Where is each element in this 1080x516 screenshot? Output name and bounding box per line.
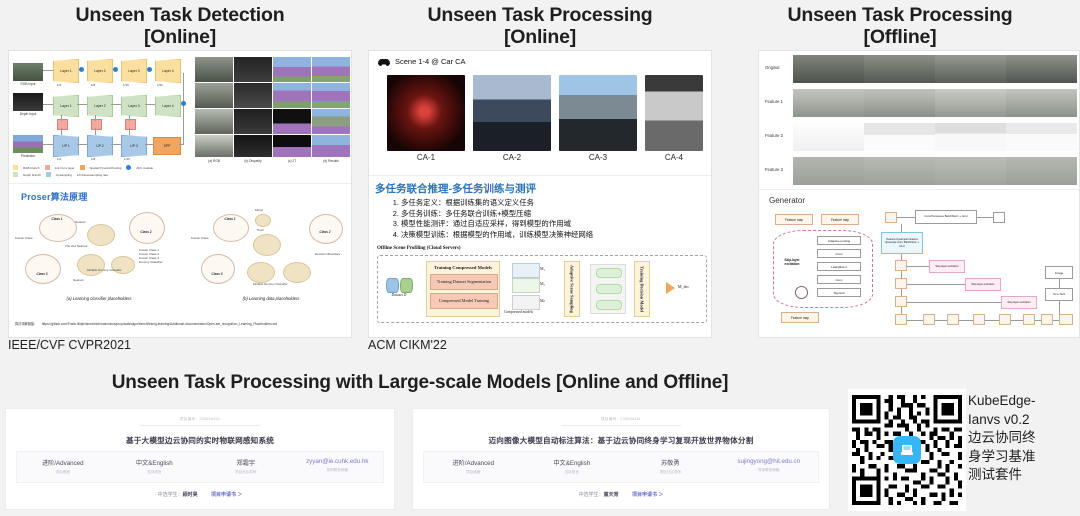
caption-cvpr2021: IEEE/CVF CVPR2021 <box>8 338 131 352</box>
qr-caption-line-4: 身学习基准 <box>968 448 1080 467</box>
slide-bullet-3: 模型性能测评：通过自适应采样，得到模型的作用域 <box>401 219 712 230</box>
project-2-number-value: 23906d151 <box>620 417 641 421</box>
multiple-dummy-b: Multiple Dummy Classifier <box>253 282 288 286</box>
afc-dot-3 <box>147 67 152 72</box>
model-label-1: M₁ <box>540 266 545 271</box>
generator-title: Generator <box>769 196 805 205</box>
document-icon <box>893 436 921 464</box>
skip-layer-excitation-module: Feature map Feature map Skip-layer excit… <box>773 214 873 328</box>
feature-cell-o3 <box>935 55 1006 83</box>
wire-v8 <box>183 106 184 144</box>
project-2-rule <box>561 425 681 426</box>
gen-convtranspose-block: ConvTranspose BatchNorm + GLU <box>915 210 977 224</box>
project-1-number-label: 项目编号： <box>180 417 199 421</box>
project-2-student-name: 童天育 <box>604 492 619 498</box>
gen-node-f4 <box>895 314 907 325</box>
qr-caption-line-2: Ianvs v0.2 <box>968 411 1080 430</box>
scene-image-row: CA-1 CA-2 CA-3 CA-4 <box>387 75 703 153</box>
panel-processing-online-figures: Scene 1-4 @ Car CA CA-1 CA-2 CA-3 CA-4 多… <box>368 50 712 338</box>
grid-caption-b: (b) Disparity <box>234 159 272 163</box>
proser-source-url[interactable]: https://github.com/Frank-lilinjie/ianvs/… <box>42 322 277 326</box>
project-1-rule <box>140 425 260 426</box>
generator-graph: ConvTranspose BatchNorm + GLU Nearest Up… <box>881 210 1077 332</box>
column-unseen-task-detection-online: Unseen Task Detection [Online] RGB Input… <box>0 0 360 352</box>
scene-image-ca4 <box>645 75 703 151</box>
project-1-email-value[interactable]: zyyan@ie.cuhk.edu.hk <box>292 458 384 465</box>
column-2-heading-line2: [Online] <box>360 26 720 48</box>
project-2-footer: 中选学生：童天育 项目申请书 ＞ <box>423 491 819 498</box>
column-3-heading-line2: [Offline] <box>720 26 1080 48</box>
rgb-layer-1: Layer 1 <box>53 59 79 83</box>
mixup-label-b: Mixup <box>255 208 263 212</box>
scale-1-8: 1/8 <box>91 83 95 87</box>
project-2-field-language: 中文&English 支持语言 <box>523 458 622 482</box>
scene-image-ca1 <box>387 75 465 151</box>
wire-v7 <box>183 73 184 101</box>
dummy-cluster-b-1 <box>247 262 275 283</box>
wire-v1 <box>61 115 62 121</box>
panel-detection-figures: RGB Input Depth Input Prediction Layer 1… <box>8 50 352 338</box>
slide-title: 多任务联合推理-多任务训练与测评 <box>375 181 536 196</box>
nearest-label-a: Nearest <box>75 220 86 224</box>
slide-bullet-list: 多任务定义：根据训练集的语义定义任务 多任务训练：多任务联合训练+模型压缩 模型… <box>387 198 712 240</box>
spp-block: SPP <box>153 137 181 155</box>
gen-node-g1 <box>923 314 935 325</box>
gen-node-z1 <box>885 212 897 223</box>
conv-box-1 <box>57 119 68 130</box>
conv-box-2 <box>91 119 102 130</box>
feature-cell-o1 <box>793 55 864 83</box>
depth-layer-2: Layer 2 <box>87 95 113 117</box>
project-1-field-language: 中文&English 支持语言 <box>109 458 201 482</box>
cluster-b-class3 <box>201 254 235 284</box>
scene-label-ca1: CA-1 <box>387 153 465 162</box>
depth-layer-3: Layer 3 <box>121 95 147 117</box>
gen-conv-tanh: Conv Tanh <box>1045 288 1073 301</box>
scene-strip-title: Scene 1-4 @ Car CA <box>395 57 466 66</box>
gen-node-f3 <box>895 296 907 307</box>
feature-row-2 <box>793 123 1077 151</box>
psi-group <box>590 264 626 314</box>
gen-upsample-block: Nearest Upsample Nearest Upsample Conv B… <box>881 232 923 254</box>
cluster-a-class2 <box>129 212 165 244</box>
qr-caption: KubeEdge- Ianvs v0.2 边云协同终 身学习基准 测试套件 <box>968 392 1080 485</box>
grid-caption-c: (c) 2T <box>273 159 311 163</box>
feature-cell-f3d <box>1006 157 1077 185</box>
project-1-difficulty-value: 进阶/Advanced <box>17 458 109 467</box>
proser-legend: Known Class 1 Known Class 2 Known Class … <box>139 248 163 264</box>
feature-cell-o2 <box>864 55 935 83</box>
sle-conv-1: Conv <box>817 249 861 258</box>
grid-cell-r3c1 <box>195 109 233 134</box>
sle-adaptive-pooling: Adaptive pooling <box>817 236 861 245</box>
qr-caption-line-1: KubeEdge- <box>968 392 1080 411</box>
up-3: UP 3 <box>121 135 147 157</box>
project-2-apply-link[interactable]: 项目申请书 ＞ <box>632 492 663 498</box>
project-1-title: 基于大模型边云协同的实时物联网感知系统 <box>6 435 394 446</box>
dec-scale-1-4: 1/4 <box>57 157 61 161</box>
sle-multiply-node <box>795 286 808 299</box>
project-2-field-email[interactable]: sujingyong@hit.edu.cn 导师联系邮箱 <box>720 458 819 482</box>
training-decision-model-box: Training Decision Model <box>634 261 650 317</box>
feature-cell-f3c <box>935 157 1006 185</box>
slide-bullet-4: 决策模型训练：根据模型的作用域，训练模型决策神经网络 <box>401 230 712 241</box>
grid-caption-d: (d) Results <box>312 159 350 163</box>
scene-strip: Scene 1-4 @ Car CA CA-1 CA-2 CA-3 CA-4 <box>369 51 712 175</box>
project-2-title: 迈向图像大模型自动标注算法：基于边云协同终身学习复现开放世界物体分割 <box>413 435 829 446</box>
decision-output-label: M_dec <box>678 284 689 289</box>
up-2: UP 2 <box>87 135 113 157</box>
sle-sigmoid: Sigmoid <box>817 288 861 297</box>
project-2-student-label: 中选学生： <box>579 492 604 498</box>
grid-cell-r2c1 <box>195 83 233 108</box>
depth-layer-1: Layer 1 <box>53 95 79 117</box>
feature-cell-f2a <box>793 123 864 151</box>
gen-node-g4 <box>999 314 1011 325</box>
proser-subcaption-b: (b) Learning data placeholders <box>191 296 351 301</box>
legend-swatch-conv <box>45 165 50 170</box>
qr-code[interactable] <box>848 389 966 511</box>
legend-swatch-spp <box>80 165 85 170</box>
project-card-2[interactable]: 项目编号：23906d151 迈向图像大模型自动标注算法：基于边云协同终身学习复… <box>412 408 830 510</box>
project-1-language-label: 支持语言 <box>109 470 201 475</box>
scene-label-ca2: CA-2 <box>473 153 551 162</box>
feature-visualization-grid: Original Feature 1 Feature 2 Feature 3 <box>759 51 1080 189</box>
feature-cell-f1c <box>935 89 1006 117</box>
afc-dot-2 <box>113 67 118 72</box>
project-card-1[interactable]: 项目编号：23906d152 基于大模型边云协同的实时物联网感知系统 进阶/Ad… <box>5 408 395 510</box>
project-1-difficulty-label: 项目难度 <box>17 470 109 475</box>
push-label-b: Push <box>257 228 264 232</box>
column-unseen-task-processing-online: Unseen Task Processing [Online] Scene 1-… <box>360 0 720 352</box>
project-1-field-difficulty: 进阶/Advanced 项目难度 <box>17 458 109 482</box>
feature-row-3 <box>793 157 1077 185</box>
proser-subcaption-a: (a) Learning classifier placeholders <box>15 296 183 301</box>
scene-image-ca3 <box>559 75 637 151</box>
project-2-fields: 进阶/Advanced 项目难度 中文&English 支持语言 苏敬勇 项目社… <box>423 451 819 483</box>
project-1-fields: 进阶/Advanced 项目难度 中文&English 支持语言 郑霜宇 项目社… <box>16 451 384 483</box>
proser-source-label: 算法详解链接： <box>15 322 37 326</box>
project-2-field-mentor: 苏敬勇 项目社区导师 <box>621 458 720 482</box>
nearest-label-a2: Nearest <box>73 278 84 282</box>
rgb-layer-4: Layer 4 <box>155 59 181 83</box>
compressed-models-group: M₁ M₂ Mₙ Compressed models <box>512 263 554 313</box>
project-1-number: 项目编号：23906d152 <box>6 417 394 422</box>
grid-cell-r4c1 <box>195 135 233 157</box>
gen-sle-1: Skip-layer excitation <box>929 260 965 273</box>
proser-title: Proser算法原理 <box>21 190 88 203</box>
training-dataset-segmentation-box: Training Dataset Segmentation <box>430 274 498 290</box>
push-cluster-b <box>253 234 281 256</box>
proser-legend-4: Dummy Classifier <box>139 260 163 264</box>
mixup-node-b <box>255 214 271 227</box>
rgb-input-label: RGB Input <box>13 82 43 86</box>
feature-cell-f1a <box>793 89 864 117</box>
column-2-heading-line1: Unseen Task Processing <box>360 4 720 26</box>
grid-cell-r1c3 <box>273 57 311 82</box>
grid-cell-r4c2 <box>234 135 272 157</box>
project-1-apply-link[interactable]: 项目申请书 ＞ <box>211 492 242 498</box>
multiple-dummy-a: Multiple Dummy Classifier <box>87 268 122 272</box>
feature-cell-f1d <box>1006 89 1077 117</box>
bottom-heading: Unseen Task Processing with Large-scale … <box>0 372 840 394</box>
wire-v4 <box>95 128 96 135</box>
caption-cikm22: ACM CIKM'22 <box>368 338 447 352</box>
project-2-field-difficulty: 进阶/Advanced 项目难度 <box>424 458 523 482</box>
sle-feature-map-out: Feature map <box>781 312 819 323</box>
project-2-number-label: 项目编号： <box>601 417 620 421</box>
adaptive-scene-sampling-box: Adaptive Scene Sampling <box>564 261 580 317</box>
feature-row-original <box>793 55 1077 83</box>
figure-rgbd-architecture: RGB Input Depth Input Prediction Layer 1… <box>9 53 352 181</box>
grid-cell-r3c2 <box>234 109 272 134</box>
feature-cell-f2c <box>935 123 1006 151</box>
legend-swatch-afc <box>126 165 131 170</box>
cluster-b-class2-label: Class 2 <box>309 230 341 234</box>
grid-cell-r4c4 <box>312 135 350 157</box>
dummy-cluster-b-2 <box>283 262 311 283</box>
project-2-language-label: 支持语言 <box>523 470 622 475</box>
dataset-cylinders <box>386 278 413 293</box>
project-1-email-label: 导师联系邮箱 <box>292 468 384 473</box>
sle-conv-2: Conv <box>817 275 861 284</box>
wire-v6 <box>129 128 130 135</box>
grid-cell-r1c4 <box>312 57 350 82</box>
wire-9 <box>145 144 153 145</box>
grid-cell-r1c1 <box>195 57 233 82</box>
feature-row-label-original: Original <box>765 65 779 70</box>
project-2-email-label: 导师联系邮箱 <box>720 468 819 473</box>
grid-cell-r1c2 <box>234 57 272 82</box>
grid-cell-r2c3 <box>273 83 311 108</box>
cluster-b-class3-label: Class 3 <box>201 272 233 276</box>
grid-cell-r2c4 <box>312 83 350 108</box>
legend-label-downsampling: 1/N Downsampling rate <box>77 173 108 177</box>
gen-node-f1 <box>895 260 907 271</box>
grid-caption-a: (a) RGB <box>195 159 233 163</box>
training-compressed-models-title: Training Compressed Models <box>430 265 496 271</box>
scene-label-ca3: CA-3 <box>559 153 637 162</box>
decision-output-arrow <box>666 282 675 294</box>
rgb-layer-2: Layer 2 <box>87 59 113 83</box>
wire-3 <box>43 144 53 145</box>
scale-1-4: 1/4 <box>57 83 61 87</box>
known-class-label-a: Known Class <box>15 236 33 240</box>
gen-sle-2: Skip-layer excitation <box>965 278 1001 291</box>
column-unseen-task-processing-offline: Unseen Task Processing [Offline] Origina… <box>720 0 1080 352</box>
sle-leakyrelu: LeakyReLU <box>817 262 861 271</box>
dummy-cluster-a-2 <box>77 254 105 276</box>
slide-multitask: 多任务联合推理-多任务训练与测评 多任务定义：根据训练集的语义定义任务 多任务训… <box>369 175 712 336</box>
feature-cell-f2b <box>864 123 935 151</box>
second-nearest-label-a: The 2nd Nearest <box>65 244 87 248</box>
dummy-cluster-a-1 <box>87 224 115 246</box>
figure-generator: Generator Feature map Feature map Skip-l… <box>759 189 1080 338</box>
project-2-number: 项目编号：23906d151 <box>413 417 829 422</box>
cluster-a-class3-label: Class 3 <box>25 272 59 276</box>
slide-bullet-1: 多任务定义：根据训练集的语义定义任务 <box>401 198 712 209</box>
wire-5 <box>111 104 121 105</box>
wire-2 <box>43 104 53 105</box>
feature-row-label-feature1: Feature 1 <box>765 99 783 104</box>
up-1: UP 1 <box>53 135 79 157</box>
project-1-field-email[interactable]: zyyan@ie.cuhk.edu.hk 导师联系邮箱 <box>292 458 384 482</box>
gen-image-out: Image <box>1045 266 1073 279</box>
dec-scale-1-8: 1/8 <box>91 157 95 161</box>
legend-label-rgb-branch: RGB branch <box>23 166 40 170</box>
rgb-layer-3: Layer 3 <box>121 59 147 83</box>
proser-subfigure-b: Class 1 Class 2 Class 3 Known Class Mixu… <box>191 208 351 290</box>
wire-6 <box>145 104 155 105</box>
sle-feature-map-in-1: Feature map <box>775 214 813 225</box>
top-panels-row: Unseen Task Detection [Online] RGB Input… <box>0 0 1080 352</box>
scale-1-32: 1/32 <box>157 83 163 87</box>
grid-cell-r3c4 <box>312 109 350 134</box>
legend-label-afc: AFC module <box>136 166 153 170</box>
compressed-models-label: Compressed models <box>504 310 562 314</box>
project-1-student-label: 中选学生： <box>158 492 183 498</box>
column-1-heading-line1: Unseen Task Detection <box>0 4 360 26</box>
feature-cell-o4 <box>1006 55 1077 83</box>
wire-4 <box>77 104 87 105</box>
qr-caption-line-3: 边云协同终 <box>968 429 1080 448</box>
project-1-student-name: 顾时昊 <box>183 492 198 498</box>
project-1-footer: 中选学生：顾时昊 项目申请书 ＞ <box>16 491 384 498</box>
model-label-2: M₂ <box>540 281 545 286</box>
project-2-language-value: 中文&English <box>523 458 622 467</box>
feature-row-label-feature3: Feature 3 <box>765 167 783 172</box>
scene-image-ca2 <box>473 75 551 151</box>
decision-boundary-label-b: Decision Boundary <box>315 252 340 256</box>
prediction-thumb <box>13 135 43 153</box>
wire-8 <box>111 144 121 145</box>
column-1-heading: Unseen Task Detection [Online] <box>0 0 360 50</box>
cluster-a-class1-label: Class 1 <box>39 217 75 221</box>
proser-source: 算法详解链接： https://github.com/Frank-lilinji… <box>15 312 349 330</box>
gen-node-g6 <box>1041 314 1053 325</box>
wire-v5 <box>129 115 130 121</box>
slide-bullet-2: 多任务训练：多任务联合训练+模型压缩 <box>401 209 712 220</box>
grid-cell-r3c3 <box>273 109 311 134</box>
known-class-label-b: Known Class <box>191 236 209 240</box>
gen-node-z0 <box>993 212 1005 223</box>
figure-proser: Proser算法原理 Class 1 Class 2 Class 3 Known… <box>9 183 352 336</box>
feature-row-label-feature2: Feature 2 <box>765 133 783 138</box>
depth-input-thumb <box>13 93 43 111</box>
cluster-a-class3 <box>25 254 61 284</box>
gen-node-g5 <box>1023 314 1035 325</box>
cluster-a-class2-label: Class 2 <box>129 230 163 234</box>
wire-7 <box>77 144 87 145</box>
project-1-mentor-value: 郑霜宇 <box>200 458 292 467</box>
scale-1-16: 1/16 <box>123 83 129 87</box>
project-2-email-value[interactable]: sujingyong@hit.edu.cn <box>720 458 819 465</box>
grid-cell-r2c2 <box>234 83 272 108</box>
dataset-label: Dataset D <box>386 293 412 297</box>
wire-1 <box>43 70 53 71</box>
feature-cell-f3a <box>793 157 864 185</box>
wire-10 <box>179 144 184 145</box>
proser-subfigure-a: Class 1 Class 2 Class 3 Known Class Near… <box>15 208 183 290</box>
legend-label-conv: 1x1 Conv layer <box>55 166 75 170</box>
legend-label-spp: Spatial Pyramid Pooling <box>90 166 122 170</box>
training-compressed-models-box: Training Compressed Models Training Data… <box>426 261 500 317</box>
qr-caption-line-5: 测试套件 <box>968 466 1080 485</box>
flow-caption: Offline Scene Profiling (Cloud Servers) <box>377 246 461 251</box>
car-icon <box>377 57 391 66</box>
architecture-diagram: RGB Input Depth Input Prediction Layer 1… <box>9 53 187 173</box>
column-1-heading-line2: [Online] <box>0 26 360 48</box>
project-2-difficulty-value: 进阶/Advanced <box>424 458 523 467</box>
feature-cell-f1b <box>864 89 935 117</box>
legend-label-upsampling: Upsampling <box>56 173 72 177</box>
sle-feature-map-in-2: Feature map <box>821 214 859 225</box>
depth-input-label: Depth Input <box>13 112 43 116</box>
wire-v3 <box>95 115 96 121</box>
rgb-input-thumb <box>13 63 43 81</box>
column-3-heading-line1: Unseen Task Processing <box>720 4 1080 26</box>
sle-label: Skip-layer excitation <box>779 258 805 266</box>
legend-swatch-rgb-branch <box>13 165 18 170</box>
cluster-b-class1-label: Class 1 <box>213 217 247 221</box>
gen-node-g3 <box>973 314 985 325</box>
feature-row-1 <box>793 89 1077 117</box>
gen-node-g7 <box>1059 314 1073 325</box>
cluster-b-class2 <box>309 214 343 244</box>
project-1-field-mentor: 郑霜宇 项目社区导师 <box>200 458 292 482</box>
project-1-number-value: 23906d152 <box>199 417 220 421</box>
project-2-difficulty-label: 项目难度 <box>424 470 523 475</box>
project-2-mentor-value: 苏敬勇 <box>621 458 720 467</box>
architecture-legend: RGB branch 1x1 Conv layer Spatial Pyrami… <box>13 165 187 177</box>
legend-swatch-depth-branch <box>13 172 18 177</box>
column-2-heading: Unseen Task Processing [Online] <box>360 0 720 50</box>
project-1-language-value: 中文&English <box>109 458 201 467</box>
gen-node-f2 <box>895 278 907 289</box>
compressed-model-training-box: Compressed Model Training <box>430 293 498 309</box>
model-label-n: Mₙ <box>540 298 545 303</box>
project-2-mentor-label: 项目社区导师 <box>621 470 720 475</box>
feature-cell-f2d <box>1006 123 1077 151</box>
prediction-label: Prediction <box>13 154 43 158</box>
depth-layer-4: Layer 4 <box>155 95 181 117</box>
scene-label-ca4: CA-4 <box>645 153 703 162</box>
offline-profiling-pipeline: Dataset D Training Compressed Models Tra… <box>377 255 707 323</box>
project-1-mentor-label: 项目社区导师 <box>200 470 292 475</box>
gen-sle-3: Skip-layer excitation <box>1001 296 1037 309</box>
legend-label-depth-branch: Depth branch <box>23 173 41 177</box>
column-3-heading: Unseen Task Processing [Offline] <box>720 0 1080 50</box>
wire-v2 <box>61 128 62 135</box>
gen-node-g2 <box>947 314 959 325</box>
conv-box-3 <box>125 119 136 130</box>
qualitative-results-grid: (a) RGB (b) Disparity (c) 2T (d) Results <box>195 57 351 167</box>
feature-cell-f3b <box>864 157 935 185</box>
legend-swatch-upsampling <box>46 172 51 177</box>
afc-dot-1 <box>79 67 84 72</box>
dec-scale-1-16: 1/16 <box>124 157 130 161</box>
grid-cell-r4c3 <box>273 135 311 157</box>
panel-processing-offline-figures: Original Feature 1 Feature 2 Feature 3 <box>758 50 1080 338</box>
